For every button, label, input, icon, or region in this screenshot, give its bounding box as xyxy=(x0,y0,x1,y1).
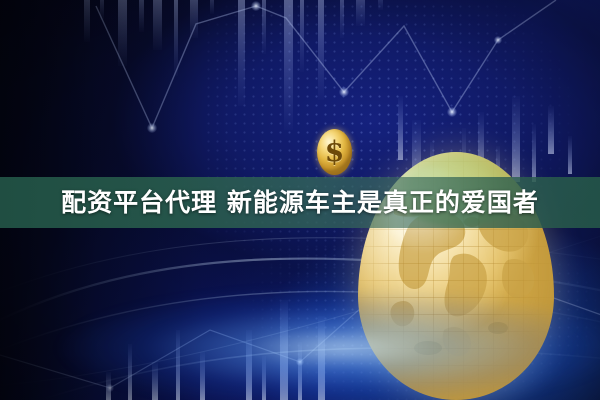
gold-coin-icon: $ xyxy=(317,129,352,175)
headline-text: 配资平台代理 新能源车主是真正的爱国者 xyxy=(61,190,539,215)
dollar-sign-icon: $ xyxy=(317,129,352,175)
headline-band: 配资平台代理 新能源车主是真正的爱国者 xyxy=(0,177,600,228)
banner-image: $ xyxy=(0,0,600,400)
